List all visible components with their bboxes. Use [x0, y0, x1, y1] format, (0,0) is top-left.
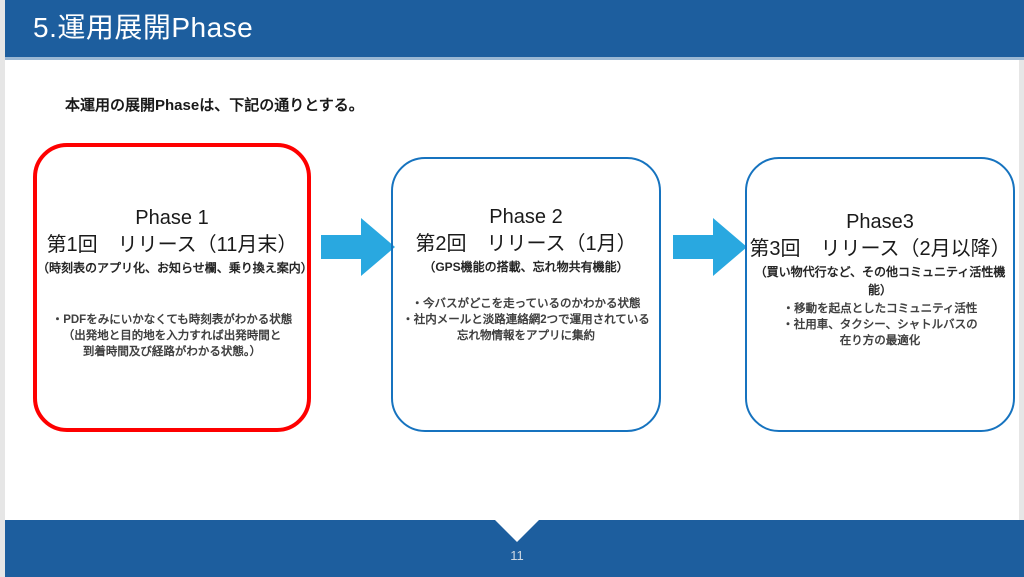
- page-number: 11: [5, 548, 1024, 563]
- page-title: 5.運用展開Phase: [33, 8, 253, 48]
- phase-box-2[interactable]: Phase 2 第2回 リリース（1月） （GPS機能の搭載、忘れ物共有機能） …: [391, 157, 661, 432]
- phase-box-1[interactable]: Phase 1 第1回 リリース（11月末） （時刻表のアプリ化、お知らせ欄、乗…: [33, 143, 311, 432]
- phase-3-title: Phase3 第3回 リリース（2月以降） （買い物代行など、その他コミュニティ…: [747, 209, 1013, 299]
- arrow-right-icon-2: [673, 216, 747, 278]
- phase-2-body: ・今バスがどこを走っているのかわかる状態 ・社内メールと淡路連絡網2つで運用され…: [393, 296, 659, 344]
- phase-3-release: 第3回 リリース（2月以降）: [747, 235, 1013, 263]
- phase-1-name: Phase 1: [37, 205, 307, 231]
- phase-2-title: Phase 2 第2回 リリース（1月） （GPS機能の搭載、忘れ物共有機能）: [393, 204, 659, 276]
- phase-2-scope: （GPS機能の搭載、忘れ物共有機能）: [393, 258, 659, 276]
- phase-3-body: ・移動を起点としたコミュニティ活性 ・社用車、タクシー、シャトルバスの 在り方の…: [747, 301, 1013, 349]
- phase-box-2-content: Phase 2 第2回 リリース（1月） （GPS機能の搭載、忘れ物共有機能） …: [393, 159, 659, 430]
- phase-3-scope: （買い物代行など、その他コミュニティ活性機能）: [747, 263, 1013, 299]
- phase-box-3[interactable]: Phase3 第3回 リリース（2月以降） （買い物代行など、その他コミュニティ…: [745, 157, 1015, 432]
- phase-2-release: 第2回 リリース（1月）: [393, 230, 659, 258]
- phase-box-1-content: Phase 1 第1回 リリース（11月末） （時刻表のアプリ化、お知らせ欄、乗…: [37, 147, 307, 428]
- arrow-right-icon-1: [321, 216, 395, 278]
- phase-1-release: 第1回 リリース（11月末）: [37, 231, 307, 259]
- slide: 5.運用展開Phase 本運用の展開Phaseは、下記の通りとする。 Phase…: [0, 0, 1024, 577]
- phase-1-title: Phase 1 第1回 リリース（11月末） （時刻表のアプリ化、お知らせ欄、乗…: [37, 205, 307, 277]
- phase-2-name: Phase 2: [393, 204, 659, 230]
- phase-1-scope: （時刻表のアプリ化、お知らせ欄、乗り換え案内）: [37, 259, 307, 277]
- phase-3-name: Phase3: [747, 209, 1013, 235]
- phase-1-body: ・PDFをみにいかなくても時刻表がわかる状態 （出発地と目的地を入力すれば出発時…: [37, 312, 307, 360]
- subtitle-text: 本運用の展開Phaseは、下記の通りとする。: [65, 94, 364, 115]
- footer-notch-triangle-icon: [495, 520, 539, 542]
- phase-box-3-content: Phase3 第3回 リリース（2月以降） （買い物代行など、その他コミュニティ…: [747, 159, 1013, 430]
- header-underline: [5, 57, 1024, 60]
